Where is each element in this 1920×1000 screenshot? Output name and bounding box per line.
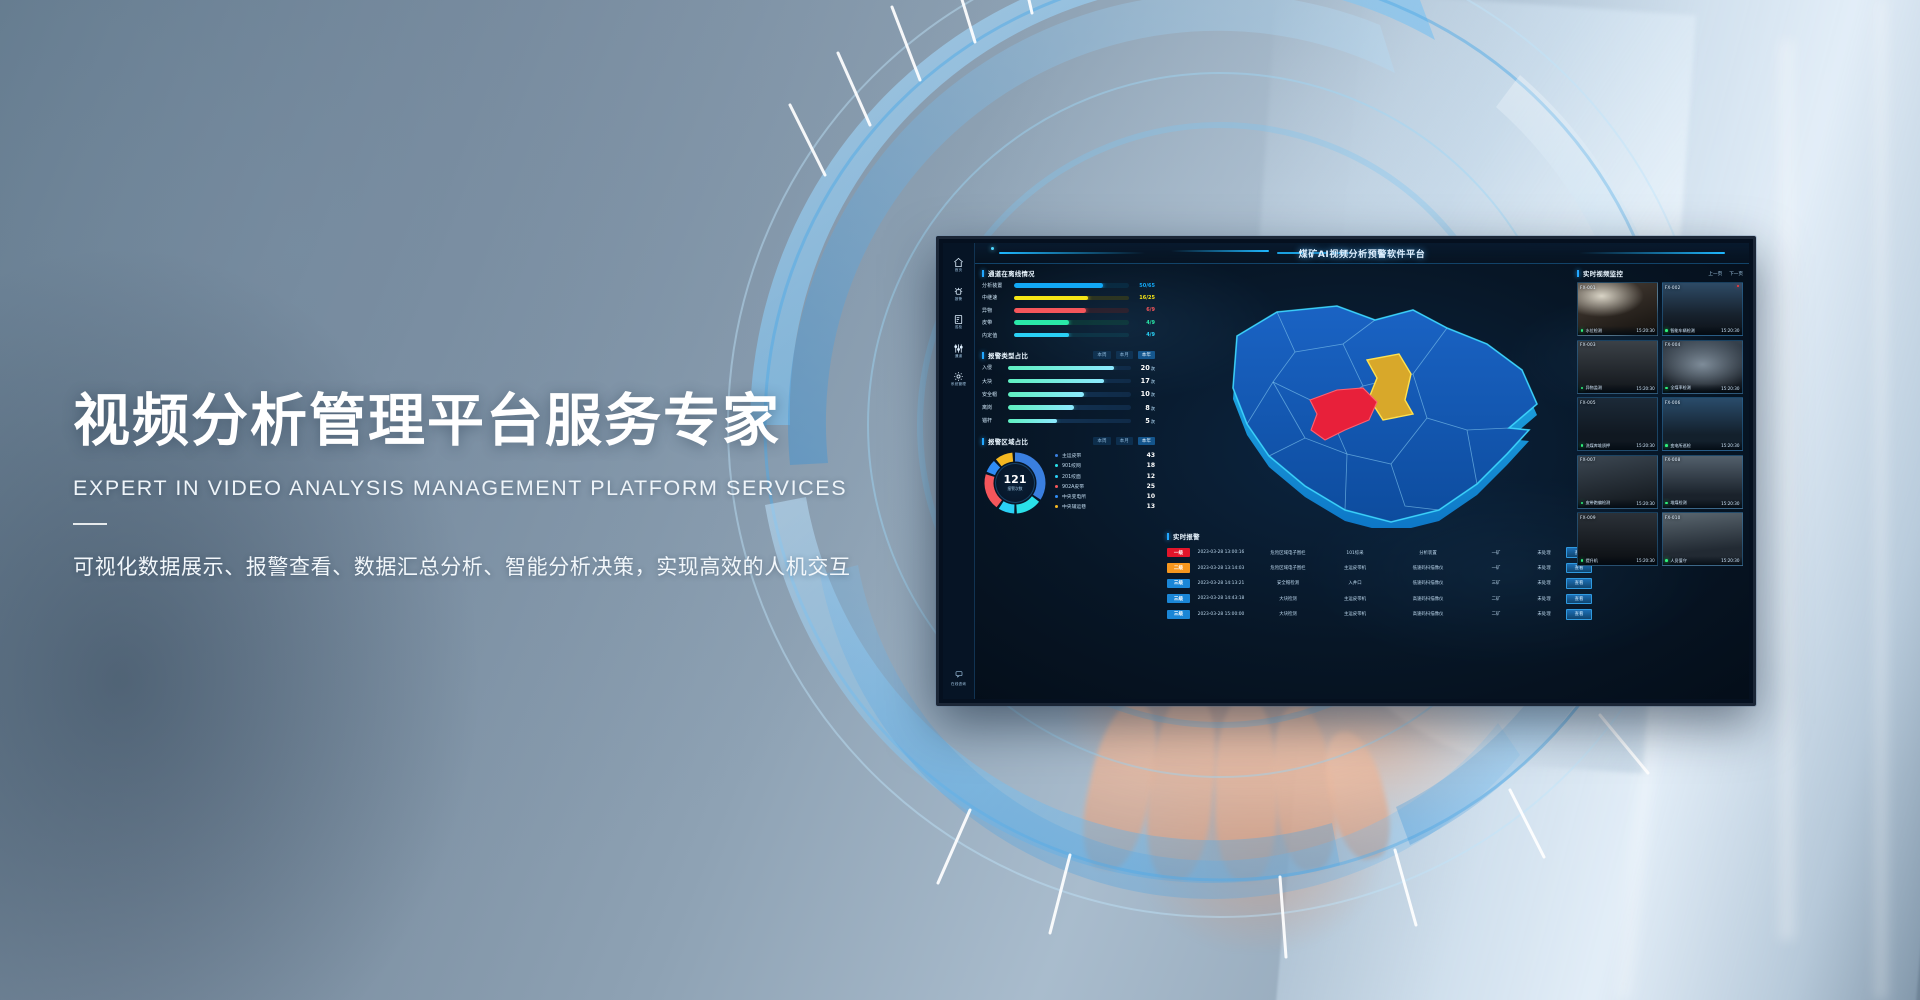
shirt-fold: [1774, 40, 1800, 940]
donut-segment[interactable]: [999, 457, 1013, 463]
alarm-mine: 一矿: [1470, 565, 1522, 571]
camera-id: FX-008: [1665, 457, 1681, 462]
sidebar-item-inspection[interactable]: 巡检: [944, 314, 974, 330]
alarm-area-panel: 报警区域占比 本周本月本年 121 报警次数 主运皮带43901绞网18201绞…: [982, 437, 1155, 516]
camera-timestamp: 15:20:30: [1636, 558, 1654, 563]
alarm-type-value: 20次: [1131, 364, 1155, 372]
channel-fill: [1014, 320, 1069, 325]
channel-track: [1014, 320, 1129, 325]
video-cell[interactable]: FX-004全煤率检测15:20:30: [1662, 340, 1743, 394]
divider: [73, 523, 107, 525]
video-footer: 提升机15:20:30: [1578, 556, 1657, 565]
alarm-type-track: [1008, 379, 1131, 383]
dashboard-screen: 首页 报警 巡检 通道: [943, 243, 1749, 699]
tab-本月[interactable]: 本月: [1116, 437, 1133, 445]
channel-track: [1014, 333, 1129, 338]
legend-item: 中央变电所10: [1055, 493, 1155, 500]
camera-name: 变电所巡检: [1670, 443, 1690, 449]
alarm-type-row: 入侵20次: [982, 364, 1155, 372]
alarm-type-value: 5次: [1131, 417, 1155, 425]
donut-total: 121: [1004, 474, 1027, 485]
right-column: 实时视频监控 上一页 下一页 FX-001水位检测15:20:30FX-002智…: [1573, 264, 1749, 699]
channel-value: 6/9: [1129, 307, 1155, 313]
alarm-type-panel: 报警类型占比 本周本月本年 入侵20次大块17次安全帽10次离岗8次锚杆5次: [982, 351, 1155, 430]
alarm-mine: 二矿: [1470, 611, 1522, 617]
camera-timestamp: 15:20:30: [1721, 501, 1739, 506]
dashboard-title: 煤矿AI视频分析预警软件平台: [975, 247, 1749, 260]
sidebar-item-chat[interactable]: 在线咨询: [951, 665, 966, 687]
video-cell[interactable]: FX-009提升机15:20:30: [1577, 512, 1658, 566]
alarm-type-track: [1008, 419, 1131, 423]
video-footer: 水位检测15:20:30: [1578, 326, 1657, 335]
title-accent: [1167, 533, 1169, 540]
donut-legend: 主运皮带43901绞网18201绞面12902A皮带25中央变电所10中央辅运巷…: [1048, 452, 1155, 514]
alarm-mine: 三矿: [1470, 580, 1522, 586]
legend-value: 12: [1141, 473, 1155, 480]
map-area: [1161, 264, 1573, 532]
alarm-time: 2023-03-28 13:14:03: [1190, 566, 1252, 571]
video-pagination: 上一页 下一页: [1708, 271, 1743, 277]
table-row: 二级2023-03-28 13:14:03危险区域电子围栏主运皮带机低速码扫描像…: [1167, 560, 1567, 575]
camera-name: 全煤率检测: [1670, 385, 1690, 391]
sidebar-item-channel[interactable]: 通道: [944, 343, 974, 359]
view-button[interactable]: 查看: [1566, 609, 1592, 620]
legend-item: 中央辅运巷13: [1055, 503, 1155, 510]
alarm-device: 高速码扫描像仪: [1386, 611, 1470, 617]
channel-fill: [1014, 333, 1069, 338]
video-panel-header: 实时视频监控 上一页 下一页: [1577, 269, 1743, 278]
video-cell[interactable]: FX-005洗煤库堆质押15:20:30: [1577, 397, 1658, 451]
panel-title-text: 实时报警: [1173, 532, 1200, 541]
online-indicator: [1581, 329, 1584, 332]
video-footer: 异物监测15:20:30: [1578, 384, 1657, 393]
legend-label: 201绞面: [1062, 473, 1141, 480]
alarm-mine: 二矿: [1470, 596, 1522, 602]
legend-item: 主运皮带43: [1055, 452, 1155, 459]
video-cell[interactable]: FX-002智能车辆检测15:20:30: [1662, 282, 1743, 336]
video-footer: 变电所巡检15:20:30: [1663, 441, 1742, 450]
channel-label: 内定值: [982, 332, 1014, 339]
donut-caption: 报警次数: [1007, 486, 1022, 492]
alarm-status: 未处理: [1522, 550, 1566, 556]
alarm-area: 主运皮带机: [1324, 596, 1386, 602]
channel-value: 50/65: [1129, 283, 1155, 289]
time-range-tabs[interactable]: 本周本月本年: [1093, 351, 1155, 359]
online-indicator: [1581, 559, 1584, 562]
legend-label: 中央变电所: [1062, 493, 1141, 500]
alarm-type: 大块检测: [1252, 611, 1324, 617]
legend-dot: [1055, 495, 1058, 498]
alarm-type-label: 大块: [982, 378, 1008, 385]
dashboard-header: 煤矿AI视频分析预警软件平台: [975, 243, 1749, 264]
legend-value: 25: [1141, 483, 1155, 490]
panel-title: 实时报警: [1167, 532, 1567, 541]
sidebar-label: 在线咨询: [951, 683, 966, 687]
online-indicator: [1665, 502, 1668, 505]
alarm-level-badge: 三级: [1167, 610, 1190, 619]
camera-id: FX-007: [1580, 457, 1596, 462]
alarm-area: 101综采: [1324, 550, 1386, 556]
legend-dot: [1055, 485, 1058, 488]
panel-title-text: 报警区域占比: [988, 437, 1028, 446]
inspection-icon: [953, 314, 964, 325]
alarm-type: 安全帽检测: [1252, 580, 1324, 586]
legend-dot: [1055, 475, 1058, 478]
alarm-status: 未处理: [1522, 611, 1566, 617]
view-button[interactable]: 查看: [1566, 594, 1592, 605]
camera-timestamp: 15:20:30: [1721, 443, 1739, 448]
sidebar-label: 巡检: [944, 326, 974, 330]
channel-value: 4/9: [1129, 320, 1155, 326]
page-title: 视频分析管理平台服务专家: [73, 390, 903, 454]
channel-track: [1014, 283, 1129, 288]
camera-id: FX-005: [1580, 400, 1596, 405]
alarm-type-track: [1008, 405, 1131, 409]
view-button[interactable]: 查看: [1566, 578, 1592, 589]
title-accent: [982, 438, 984, 445]
camera-name: 水位检测: [1586, 328, 1602, 334]
table-row: 三级2023-03-28 14:13:21安全帽检测入井口低速码扫描像仪三矿未处…: [1167, 576, 1567, 591]
channel-row: 中继速16/25: [982, 294, 1155, 301]
alarm-level-badge: 一级: [1167, 548, 1190, 557]
alarm-type-fill: [1008, 419, 1057, 423]
alarm-area: 入井口: [1324, 580, 1386, 586]
channel-rows: 分析装置50/65中继速16/25异物6/9皮带4/9内定值4/9: [982, 282, 1155, 339]
camera-name: 提升机: [1586, 558, 1598, 564]
tab-本月[interactable]: 本月: [1116, 351, 1133, 359]
finger: [1215, 695, 1277, 880]
alarm-device: 低速码扫描像仪: [1386, 565, 1470, 571]
channel-icon: [953, 343, 964, 354]
panel-title: 报警类型占比 本周本月本年: [982, 351, 1155, 360]
alarm-type-rows: 入侵20次大块17次安全帽10次离岗8次锚杆5次: [982, 364, 1155, 425]
donut-section: 121 报警次数 主运皮带43901绞网18201绞面12902A皮带25中央变…: [982, 450, 1155, 516]
camera-id: FX-004: [1665, 342, 1681, 347]
dashboard-monitor: 首页 报警 巡检 通道: [936, 236, 1756, 706]
shirt-fold: [1872, 0, 1890, 1000]
video-cell[interactable]: FX-010人员值守15:20:30: [1662, 512, 1743, 566]
alarm-level-badge: 二级: [1167, 563, 1190, 572]
legend-dot: [1055, 454, 1058, 457]
online-indicator: [1581, 387, 1584, 390]
camera-timestamp: 15:20:30: [1721, 558, 1739, 563]
alarm-level-badge: 三级: [1167, 579, 1190, 588]
alarm-time: 2023-03-28 14:13:21: [1190, 581, 1252, 586]
recording-indicator: [1737, 285, 1739, 287]
donut-segment[interactable]: [1001, 505, 1014, 509]
camera-id: FX-002: [1665, 285, 1681, 290]
legend-item: 201绞面12: [1055, 473, 1155, 480]
alarm-type-label: 安全帽: [982, 391, 1008, 398]
video-cell[interactable]: FX-008堆煤检测15:20:30: [1662, 455, 1743, 509]
channel-row: 异物6/9: [982, 307, 1155, 314]
video-grid: FX-001水位检测15:20:30FX-002智能车辆检测15:20:30FX…: [1577, 282, 1743, 566]
hero-copy: 视频分析管理平台服务专家 EXPERT IN VIDEO ANALYSIS MA…: [73, 390, 903, 581]
channel-value: 16/25: [1129, 295, 1155, 301]
legend-value: 10: [1141, 493, 1155, 500]
channel-fill: [1014, 283, 1103, 288]
alarm-type-label: 入侵: [982, 364, 1008, 371]
sidebar-label: 系统管理: [944, 383, 974, 387]
sidebar-label: 通道: [944, 355, 974, 359]
channel-row: 分析装置50/65: [982, 282, 1155, 289]
camera-timestamp: 15:20:30: [1636, 501, 1654, 506]
alarm-area-donut: 121 报警次数: [982, 450, 1048, 516]
legend-item: 901绞网18: [1055, 462, 1155, 469]
camera-name: 异物监测: [1586, 385, 1602, 391]
channel-label: 中继速: [982, 294, 1014, 301]
dashboard-sidebar: 首页 报警 巡检 通道: [943, 243, 975, 699]
online-indicator: [1665, 444, 1668, 447]
camera-id: FX-003: [1580, 342, 1596, 347]
channel-track: [1014, 308, 1129, 313]
channel-status-panel: 通道在离线情况 分析装置50/65中继速16/25异物6/9皮带4/9内定值4/…: [982, 269, 1155, 344]
video-footer: 人员值守15:20:30: [1663, 556, 1742, 565]
alarm-type-row: 安全帽10次: [982, 390, 1155, 398]
channel-row: 内定值4/9: [982, 332, 1155, 339]
alarm-type-value: 8次: [1131, 404, 1155, 412]
alarm-level-badge: 三级: [1167, 594, 1190, 603]
panel-title: 报警区域占比 本周本月本年: [982, 437, 1155, 446]
online-indicator: [1665, 329, 1668, 332]
legend-label: 主运皮带: [1062, 452, 1141, 459]
panel-title-text: 报警类型占比: [988, 351, 1028, 360]
donut-center: 121 报警次数: [995, 463, 1035, 503]
dashboard-body: 通道在离线情况 分析装置50/65中继速16/25异物6/9皮带4/9内定值4/…: [975, 264, 1749, 699]
alarm-mine: 一矿: [1470, 550, 1522, 556]
chat-icon: [955, 670, 963, 678]
alarm-type: 大块检测: [1252, 596, 1324, 602]
alarm-time: 2023-03-28 15:00:00: [1190, 612, 1252, 617]
tab-本周[interactable]: 本周: [1093, 351, 1110, 359]
alarm-type-row: 离岗8次: [982, 404, 1155, 412]
alarm-table: 一级2023-03-28 13:00:16危险区域电子围栏101综采分析装置一矿…: [1167, 545, 1567, 622]
tab-本年[interactable]: 本年: [1138, 437, 1155, 445]
alarm-type-label: 锚杆: [982, 417, 1008, 424]
sidebar-item-alarm[interactable]: 报警: [944, 286, 974, 302]
alarm-area: 主运皮带机: [1324, 611, 1386, 617]
alarm-type-label: 离岗: [982, 404, 1008, 411]
alarm-type-row: 锚杆5次: [982, 417, 1155, 425]
channel-fill: [1014, 296, 1088, 301]
table-row: 三级2023-03-28 14:43:18大块检测主运皮带机高速码扫描像仪二矿未…: [1167, 591, 1567, 606]
legend-value: 43: [1141, 452, 1155, 459]
legend-value: 18: [1141, 462, 1155, 469]
video-footer: 堆煤检测15:20:30: [1663, 499, 1742, 508]
channel-label: 分析装置: [982, 282, 1014, 289]
panel-title: 实时视频监控: [1577, 269, 1623, 278]
video-footer: 皮带跑偏检测15:20:30: [1578, 499, 1657, 508]
tab-本年[interactable]: 本年: [1138, 351, 1155, 359]
panel-title-text: 通道在离线情况: [988, 269, 1035, 278]
alarm-status: 未处理: [1522, 596, 1566, 602]
page-subtitle: EXPERT IN VIDEO ANALYSIS MANAGEMENT PLAT…: [73, 476, 903, 501]
video-cell[interactable]: FX-006变电所巡检15:20:30: [1662, 397, 1743, 451]
legend-dot: [1055, 505, 1058, 508]
alarm-type-track: [1008, 366, 1131, 370]
alarm-type-value: 17次: [1131, 377, 1155, 385]
alarm-time: 2023-03-28 13:00:16: [1190, 550, 1252, 555]
alarm-type-fill: [1008, 379, 1104, 383]
region-map[interactable]: [1177, 278, 1567, 528]
legend-dot: [1055, 464, 1058, 467]
alarm-device: 高速码扫描像仪: [1386, 596, 1470, 602]
page-description: 可视化数据展示、报警查看、数据汇总分析、智能分析决策，实现高效的人机交互: [73, 551, 903, 581]
table-row: 一级2023-03-28 13:00:16危险区域电子围栏101综采分析装置一矿…: [1167, 545, 1567, 560]
prev-page-button[interactable]: 上一页: [1708, 271, 1722, 277]
video-footer: 全煤率检测15:20:30: [1663, 384, 1742, 393]
video-cell[interactable]: FX-007皮带跑偏检测15:20:30: [1577, 455, 1658, 509]
time-range-tabs[interactable]: 本周本月本年: [1093, 437, 1155, 445]
tab-本周[interactable]: 本周: [1093, 437, 1110, 445]
center-column: 实时报警 一级2023-03-28 13:00:16危险区域电子围栏101综采分…: [1161, 264, 1573, 699]
camera-timestamp: 15:20:30: [1721, 328, 1739, 333]
sidebar-label: 报警: [944, 298, 974, 302]
next-page-button[interactable]: 下一页: [1729, 271, 1743, 277]
video-footer: 智能车辆检测15:20:30: [1663, 326, 1742, 335]
camera-id: FX-006: [1665, 400, 1681, 405]
alarm-device: 低速码扫描像仪: [1386, 580, 1470, 586]
gear-icon: [953, 371, 964, 382]
camera-timestamp: 15:20:30: [1636, 328, 1654, 333]
alarm-area: 主运皮带机: [1324, 565, 1386, 571]
legend-label: 中央辅运巷: [1062, 503, 1141, 510]
channel-fill: [1014, 308, 1086, 313]
alarm-type-fill: [1008, 405, 1074, 409]
table-row: 三级2023-03-28 15:00:00大块检测主运皮带机高速码扫描像仪二矿未…: [1167, 607, 1567, 622]
online-indicator: [1665, 387, 1668, 390]
camera-timestamp: 15:20:30: [1721, 386, 1739, 391]
alarm-type: 危险区域电子围栏: [1252, 550, 1324, 556]
sidebar-label: 首页: [944, 269, 974, 273]
camera-id: FX-010: [1665, 515, 1681, 520]
alarm-type-fill: [1008, 392, 1084, 396]
channel-label: 皮带: [982, 319, 1014, 326]
channel-row: 皮带4/9: [982, 319, 1155, 326]
sidebar-item-home[interactable]: 首页: [944, 257, 974, 273]
online-indicator: [1581, 444, 1584, 447]
sidebar-item-system[interactable]: 系统管理: [944, 371, 974, 387]
camera-id: FX-009: [1580, 515, 1596, 520]
panel-title-text: 实时视频监控: [1583, 269, 1623, 278]
left-column: 通道在离线情况 分析装置50/65中继速16/25异物6/9皮带4/9内定值4/…: [975, 264, 1161, 699]
camera-timestamp: 15:20:30: [1636, 386, 1654, 391]
camera-name: 洗煤库堆质押: [1586, 443, 1611, 449]
alarm-status: 未处理: [1522, 565, 1566, 571]
channel-value: 4/9: [1129, 332, 1155, 338]
online-indicator: [1665, 559, 1668, 562]
alarm-device: 分析装置: [1386, 550, 1470, 556]
panel-title: 通道在离线情况: [982, 269, 1155, 278]
alarm-type: 危险区域电子围栏: [1252, 565, 1324, 571]
video-cell[interactable]: FX-003异物监测15:20:30: [1577, 340, 1658, 394]
channel-track: [1014, 296, 1129, 301]
alarm-type-value: 10次: [1131, 390, 1155, 398]
donut-segment[interactable]: [991, 464, 997, 473]
alarm-type-fill: [1008, 366, 1114, 370]
title-accent: [982, 270, 984, 277]
alarm-icon: [953, 286, 964, 297]
video-cell[interactable]: FX-001水位检测15:20:30: [1577, 282, 1658, 336]
home-icon: [953, 257, 964, 268]
alarm-status: 未处理: [1522, 580, 1566, 586]
camera-name: 人员值守: [1670, 558, 1686, 564]
camera-name: 堆煤检测: [1670, 500, 1686, 506]
online-indicator: [1581, 502, 1584, 505]
alarm-type-track: [1008, 392, 1131, 396]
title-accent: [1577, 270, 1579, 277]
video-footer: 洗煤库堆质押15:20:30: [1578, 441, 1657, 450]
camera-name: 智能车辆检测: [1670, 328, 1695, 334]
camera-timestamp: 15:20:30: [1636, 443, 1654, 448]
legend-label: 901绞网: [1062, 462, 1141, 469]
channel-label: 异物: [982, 307, 1014, 314]
legend-item: 902A皮带25: [1055, 483, 1155, 490]
camera-name: 皮带跑偏检测: [1586, 500, 1611, 506]
legend-label: 902A皮带: [1062, 483, 1141, 490]
alarm-type-row: 大块17次: [982, 377, 1155, 385]
realtime-alarm-panel: 实时报警 一级2023-03-28 13:00:16危险区域电子围栏101综采分…: [1167, 532, 1567, 696]
camera-id: FX-001: [1580, 285, 1596, 290]
legend-value: 13: [1141, 503, 1155, 510]
title-accent: [982, 352, 984, 359]
alarm-time: 2023-03-28 14:43:18: [1190, 596, 1252, 601]
